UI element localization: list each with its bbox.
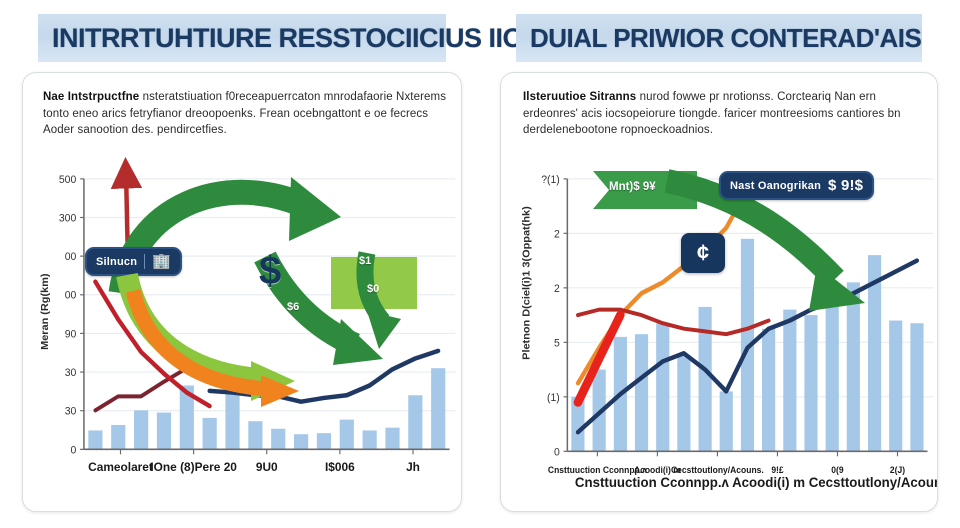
- svg-text:IOne (8)Pere 20: IOne (8)Pere 20: [150, 460, 237, 474]
- left-y-axis-label: Meran (Rg(km): [39, 273, 51, 350]
- left-panel: INITRRTUHTIURE RESSTOCIICIUS IION Nae In…: [6, 8, 478, 522]
- dollar-sign-icon: $: [259, 251, 281, 291]
- svg-text:I$006: I$006: [325, 460, 355, 474]
- left-card: Nae Intstrpuctfne nsteratstiuation f0rec…: [22, 72, 462, 512]
- svg-text:90: 90: [65, 328, 77, 340]
- svg-text:9!£: 9!£: [771, 465, 783, 475]
- left-y-tick-labels: 03030900000300500: [59, 174, 84, 457]
- svg-text:00: 00: [65, 251, 77, 263]
- cent-icon: ¢: [697, 240, 709, 266]
- svg-text:300: 300: [59, 212, 76, 224]
- infographic-page: INITRRTUHTIURE RESSTOCIICIUS IION Nae In…: [0, 0, 960, 528]
- right-info-badge[interactable]: Nast Oanogrikan $ 9!$: [719, 171, 874, 200]
- svg-text:30: 30: [65, 405, 77, 417]
- left-badge-label: Silnucn: [96, 256, 137, 268]
- svg-text:500: 500: [59, 174, 76, 186]
- right-paragraph: Ilsteruutioe Sitranns nurod fowwe pr nro…: [523, 89, 927, 139]
- right-badge-label: Nast Oanogrikan: [730, 180, 821, 192]
- left-title-band: INITRRTUHTIURE RESSTOCIICIUS IION: [38, 14, 446, 62]
- right-panel-title: DUIAL PRIWIOR CONTERAD'AIS: [530, 23, 921, 54]
- svg-text:0: 0: [554, 446, 560, 458]
- svg-text:9U0: 9U0: [256, 460, 278, 474]
- left-x-tick-labels: CameolaretIOne (8)Pere 209U0I$006Jh: [88, 449, 420, 474]
- right-cent-badge[interactable]: ¢: [681, 233, 725, 273]
- right-title-band: DUIAL PRIWIOR CONTERAD'AIS: [516, 14, 922, 62]
- building-icon: 🏢: [152, 254, 171, 269]
- right-x-axis-label: Cnsttuuction Cconnpp.ʌ Acoodi(i) m Cecst…: [575, 475, 937, 490]
- svg-text:2: 2: [554, 283, 560, 295]
- svg-text:?(1): ?(1): [541, 174, 560, 186]
- left-paragraph-lead: Nae Intstrpuctfne: [43, 91, 139, 103]
- right-panel: DUIAL PRIWIOR CONTERAD'AIS Ilsteruutioe …: [484, 8, 954, 522]
- left-green-box-label-2: $0: [367, 283, 379, 295]
- right-badge-value: $ 9!$: [828, 178, 863, 193]
- svg-text:Cameolaret: Cameolaret: [88, 460, 153, 474]
- right-x-tick-labels: Cnsttuuction Cconnpp.ʌAcoodi(i) mCecstto…: [548, 451, 905, 475]
- svg-text:(1): (1): [547, 392, 560, 404]
- right-y-axis-label: Pletnon D(ciel(i)1 3(Oppat(hk): [521, 206, 533, 360]
- svg-text:2(J): 2(J): [890, 465, 905, 475]
- svg-text:Cnsttuuction Cconnpp.ʌ: Cnsttuuction Cconnpp.ʌ: [548, 465, 647, 475]
- left-paragraph: Nae Intstrpuctfne nsteratstiuation f0rec…: [43, 89, 447, 139]
- left-green-box-label-1: $1: [359, 255, 371, 267]
- svg-text:00: 00: [65, 290, 77, 302]
- right-green-tag-label: Mnt)$ 9¥: [609, 181, 656, 193]
- left-green-box-arrow: [339, 249, 425, 359]
- badge-divider: [144, 254, 145, 269]
- svg-text:0(9: 0(9: [831, 465, 843, 475]
- svg-text:2: 2: [554, 228, 560, 240]
- right-y-tick-labels: 0(1)522?(1): [541, 174, 567, 459]
- svg-text:Cecsttoutlony/Acouns.: Cecsttoutlony/Acouns.: [671, 465, 764, 475]
- right-card: Ilsteruutioe Sitranns nurod fowwe pr nro…: [500, 72, 938, 512]
- left-green-arrow-label: $6: [287, 301, 299, 313]
- svg-text:30: 30: [65, 367, 77, 379]
- left-panel-title: INITRRTUHTIURE RESSTOCIICIUS IION: [52, 23, 542, 54]
- right-paragraph-lead: Ilsteruutioe Sitranns: [523, 91, 636, 103]
- svg-text:5: 5: [554, 337, 560, 349]
- svg-text:0: 0: [70, 444, 76, 456]
- svg-text:Jh: Jh: [406, 460, 420, 474]
